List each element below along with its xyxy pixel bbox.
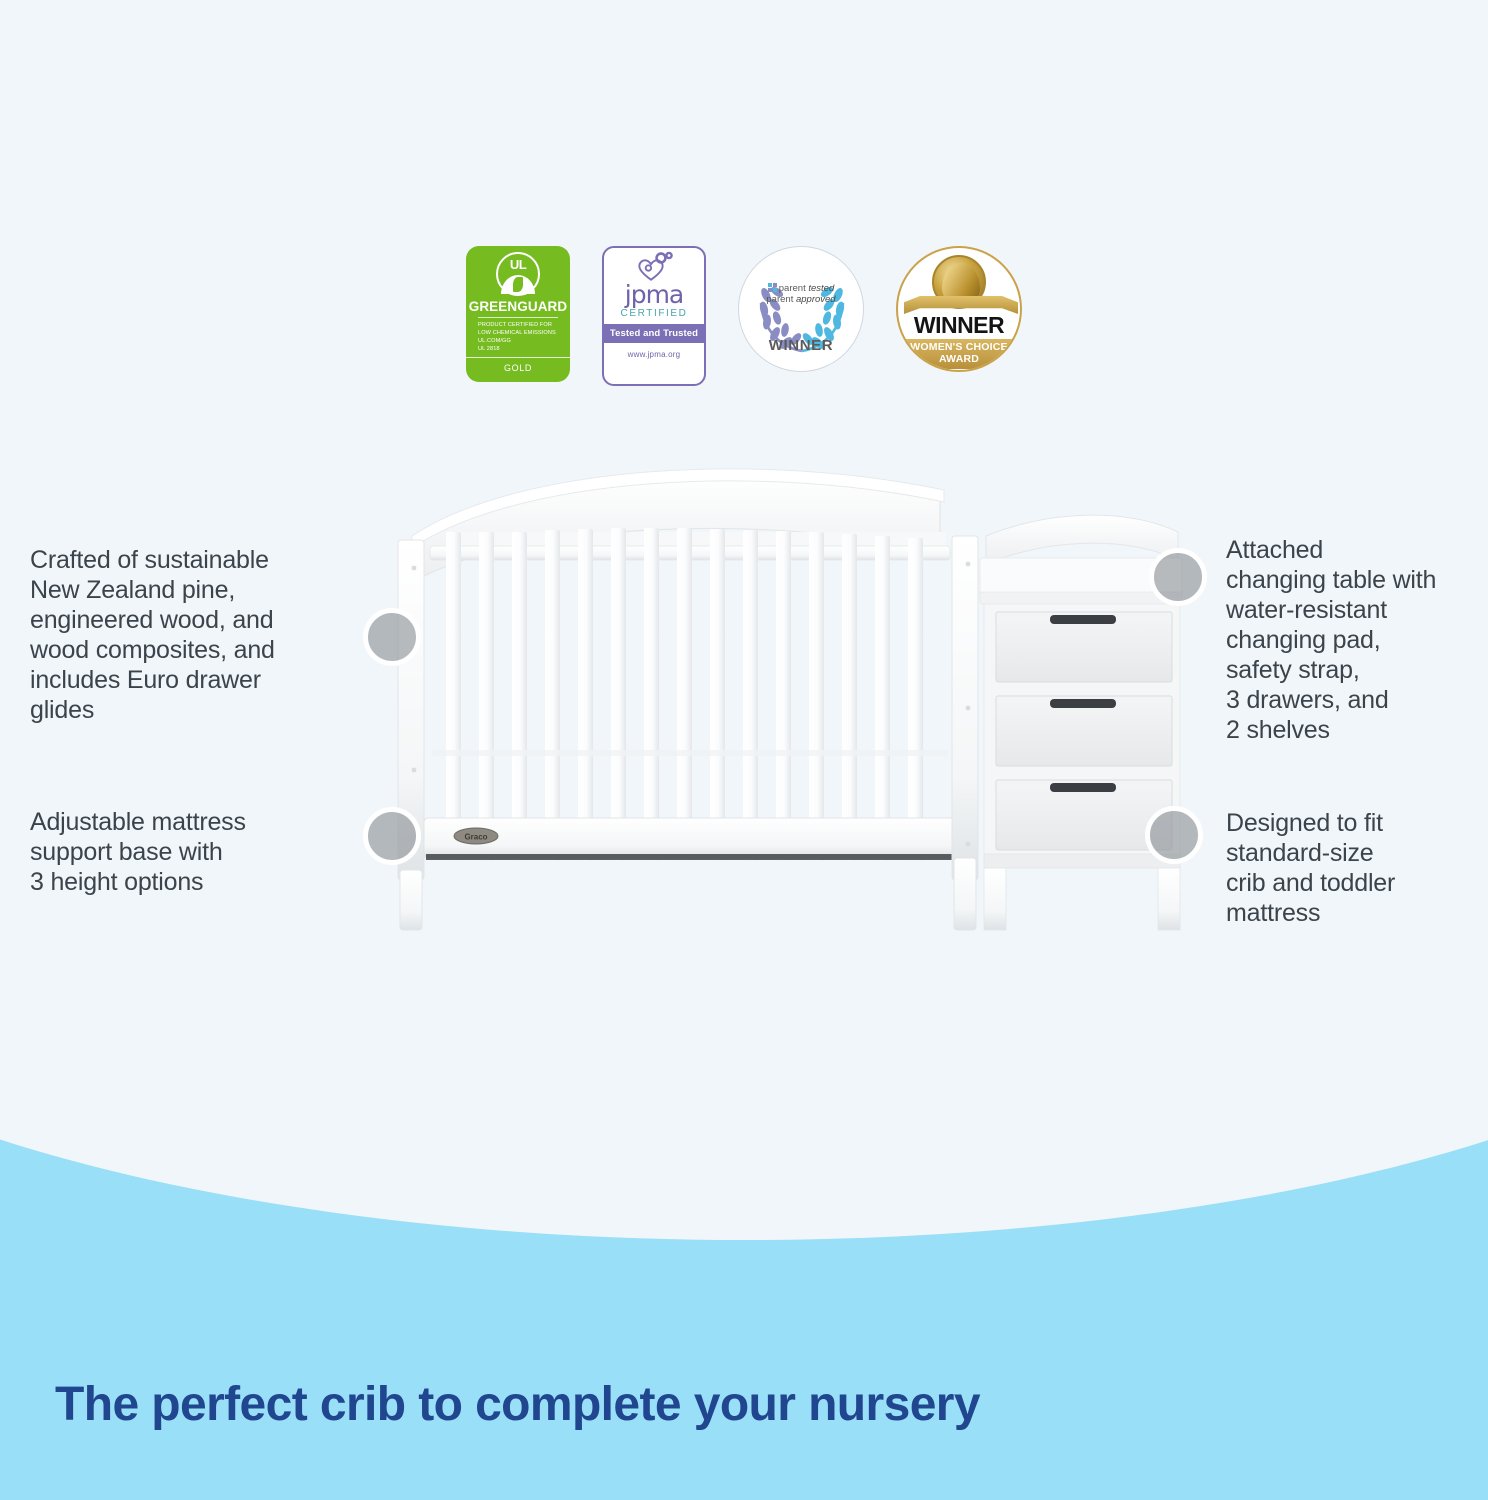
ptpa-line2-script: approved — [796, 294, 836, 305]
greenguard-title: GREENGUARD — [469, 299, 568, 314]
feature-text-standard-size-mattress: Designed to fit standard-size crib and t… — [1226, 808, 1476, 928]
crib-base-shadow — [426, 854, 956, 860]
ul-leaf-icon: UL — [496, 252, 540, 296]
jpma-certified-label: CERTIFIED — [621, 308, 688, 319]
bottom-headline: The perfect crib to complete your nurser… — [55, 1377, 980, 1432]
infographic-page: UL GREENGUARD PRODUCT CERTIFIED FOR LOW … — [0, 0, 1488, 1500]
callout-marker-standard-size-mattress[interactable] — [1145, 806, 1203, 864]
changer-top-edge — [980, 592, 1182, 604]
drawer-handle-2 — [1050, 699, 1116, 708]
changer-left-leg — [984, 868, 1006, 930]
ptpa-squares-icon — [768, 283, 777, 292]
ptpa-line1-plain: parent — [779, 283, 806, 294]
ptpa-line2-plain: parent — [766, 294, 793, 305]
badge-jpma: jpma CERTIFIED Tested and Trusted www.jp… — [602, 246, 706, 386]
ptpa-line1-script: tested — [808, 283, 834, 294]
crib-right-post — [952, 536, 978, 880]
changer-drawer-1 — [996, 612, 1172, 682]
callout-marker-crafted-materials[interactable] — [363, 608, 421, 666]
greenguard-level: GOLD — [466, 357, 570, 377]
drawer-handle-3 — [1050, 783, 1116, 792]
ptpa-award-label: WINNER — [739, 337, 863, 354]
crib-left-leg — [400, 870, 422, 930]
crib-bottom-rail — [424, 818, 958, 858]
badge-greenguard: UL GREENGUARD PRODUCT CERTIFIED FOR LOW … — [466, 246, 570, 382]
jpma-tagline: Tested and Trusted — [604, 324, 704, 343]
badge-ptpa: parent tested parent approved WINNER — [738, 246, 864, 372]
changer-right-leg — [1158, 868, 1180, 930]
crib-slats — [446, 528, 923, 860]
bottom-blue-band — [0, 1100, 1488, 1500]
callout-marker-adjustable-mattress-base[interactable] — [363, 807, 421, 865]
feature-text-adjustable-mattress-base: Adjustable mattress support base with 3 … — [30, 807, 360, 897]
badge-womens-choice-award: WINNER WOMEN'S CHOICE AWARD — [896, 246, 1022, 372]
crib-right-leg — [954, 858, 976, 930]
greenguard-fine-print: PRODUCT CERTIFIED FOR LOW CHEMICAL EMISS… — [478, 321, 558, 353]
changer-drawer-2 — [996, 696, 1172, 766]
feature-text-crafted-materials: Crafted of sustainable New Zealand pine,… — [30, 545, 360, 725]
product-image-crib-and-changer: Graco — [360, 440, 1200, 940]
callout-marker-attached-changing-table[interactable] — [1149, 548, 1207, 606]
jpma-wordmark: jpma — [625, 284, 684, 307]
divider — [478, 317, 558, 318]
wca-award-label: WINNER — [898, 312, 1020, 339]
feature-text-attached-changing-table: Attached changing table with water-resis… — [1226, 535, 1476, 745]
wca-line2: AWARD — [939, 354, 979, 366]
jpma-url: www.jpma.org — [628, 350, 681, 359]
changer-shelf — [984, 854, 1180, 868]
graco-brand-text: Graco — [464, 833, 487, 842]
changer-back-rail — [986, 515, 1178, 564]
parent-child-heart-icon — [635, 251, 673, 283]
drawer-handle-1 — [1050, 615, 1116, 624]
certification-badges: UL GREENGUARD PRODUCT CERTIFIED FOR LOW … — [0, 246, 1488, 396]
ul-mark-label: UL — [498, 258, 538, 271]
